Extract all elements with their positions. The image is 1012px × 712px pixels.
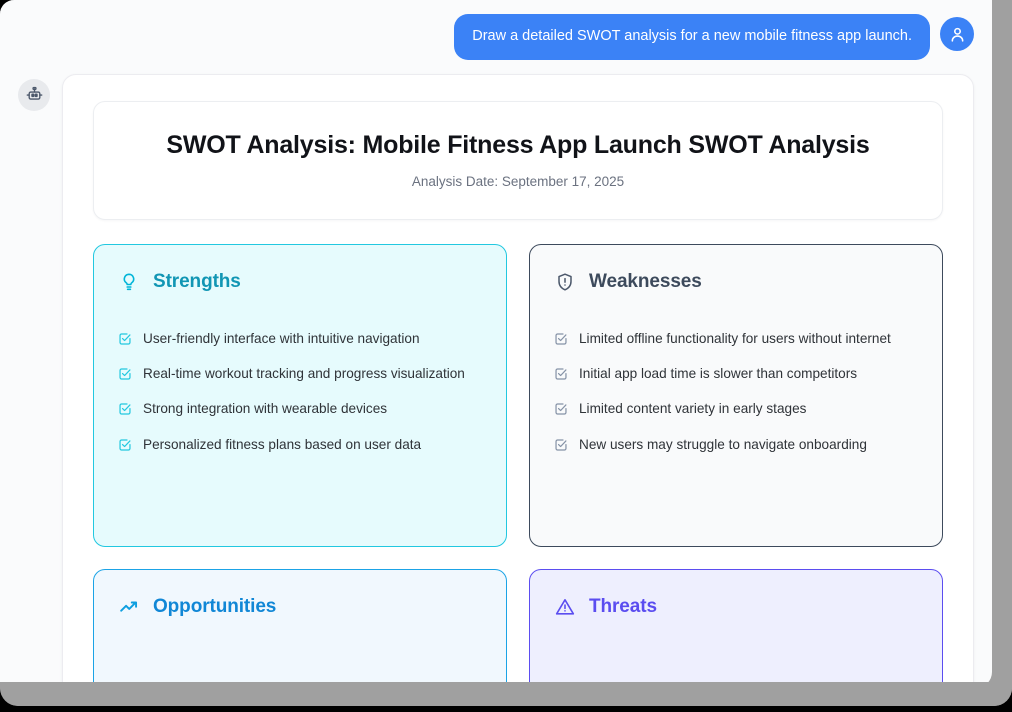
check-square-icon	[118, 332, 132, 346]
list-item: New users may struggle to navigate onboa…	[554, 435, 918, 455]
list-item-label: Real-time workout tracking and progress …	[143, 364, 465, 384]
user-avatar-icon	[948, 25, 967, 44]
app-viewport: Draw a detailed SWOT analysis for a new …	[0, 0, 992, 688]
check-square-icon	[554, 438, 568, 452]
list-item-label: Limited offline functionality for users …	[579, 329, 891, 349]
check-square-icon	[554, 332, 568, 346]
quadrant-heading: Threats	[554, 596, 918, 618]
check-square-icon	[118, 438, 132, 452]
warning-triangle-icon	[554, 596, 576, 618]
assistant-message: SWOT Analysis: Mobile Fitness App Launch…	[0, 60, 992, 688]
quadrant-heading: Weaknesses	[554, 271, 918, 293]
quadrant-opportunities: Opportunities	[93, 569, 507, 688]
quadrant-threats: Threats	[529, 569, 943, 688]
check-square-icon	[554, 402, 568, 416]
robot-icon	[26, 86, 43, 103]
user-avatar	[940, 17, 974, 51]
check-square-icon	[554, 367, 568, 381]
chat-transcript[interactable]: Draw a detailed SWOT analysis for a new …	[0, 0, 992, 688]
lightbulb-icon	[118, 271, 140, 293]
user-message-bubble: Draw a detailed SWOT analysis for a new …	[454, 14, 930, 60]
user-message: Draw a detailed SWOT analysis for a new …	[0, 0, 992, 60]
quadrant-title: Weaknesses	[589, 271, 702, 293]
list-item: Limited offline functionality for users …	[554, 329, 918, 349]
vertical-scrollbar[interactable]	[992, 0, 1012, 706]
list-item-label: Initial app load time is slower than com…	[579, 364, 857, 384]
trending-up-icon	[118, 596, 140, 618]
swot-document: SWOT Analysis: Mobile Fitness App Launch…	[62, 74, 974, 688]
list-item: User-friendly interface with intuitive n…	[118, 329, 482, 349]
scrollbar-thumb[interactable]	[1001, 6, 1008, 256]
swot-quadrant-grid: Strengths	[93, 244, 943, 688]
list-item-label: Limited content variety in early stages	[579, 399, 806, 419]
quadrant-heading: Strengths	[118, 271, 482, 293]
swot-header-card: SWOT Analysis: Mobile Fitness App Launch…	[93, 101, 943, 220]
list-item: Real-time workout tracking and progress …	[118, 364, 482, 384]
quadrant-item-list: Limited offline functionality for users …	[554, 329, 918, 456]
page-title: SWOT Analysis: Mobile Fitness App Launch…	[118, 130, 918, 160]
list-item: Limited content variety in early stages	[554, 399, 918, 419]
assistant-avatar	[18, 79, 50, 111]
analysis-date: Analysis Date: September 17, 2025	[118, 174, 918, 189]
quadrant-strengths: Strengths	[93, 244, 507, 547]
list-item-label: New users may struggle to navigate onboa…	[579, 435, 867, 455]
list-item: Initial app load time is slower than com…	[554, 364, 918, 384]
quadrant-title: Strengths	[153, 271, 241, 293]
quadrant-heading: Opportunities	[118, 596, 482, 618]
list-item-label: User-friendly interface with intuitive n…	[143, 329, 420, 349]
quadrant-title: Opportunities	[153, 596, 276, 618]
list-item-label: Strong integration with wearable devices	[143, 399, 387, 419]
application-window: Draw a detailed SWOT analysis for a new …	[0, 0, 1012, 706]
list-item: Personalized fitness plans based on user…	[118, 435, 482, 455]
quadrant-title: Threats	[589, 596, 657, 618]
shield-alert-icon	[554, 271, 576, 293]
list-item-label: Personalized fitness plans based on user…	[143, 435, 421, 455]
check-square-icon	[118, 367, 132, 381]
window-corner-notch	[0, 0, 14, 14]
check-square-icon	[118, 402, 132, 416]
list-item: Strong integration with wearable devices	[118, 399, 482, 419]
quadrant-weaknesses: Weaknesses	[529, 244, 943, 547]
window-bottom-bar	[0, 682, 1012, 706]
quadrant-item-list: User-friendly interface with intuitive n…	[118, 329, 482, 456]
